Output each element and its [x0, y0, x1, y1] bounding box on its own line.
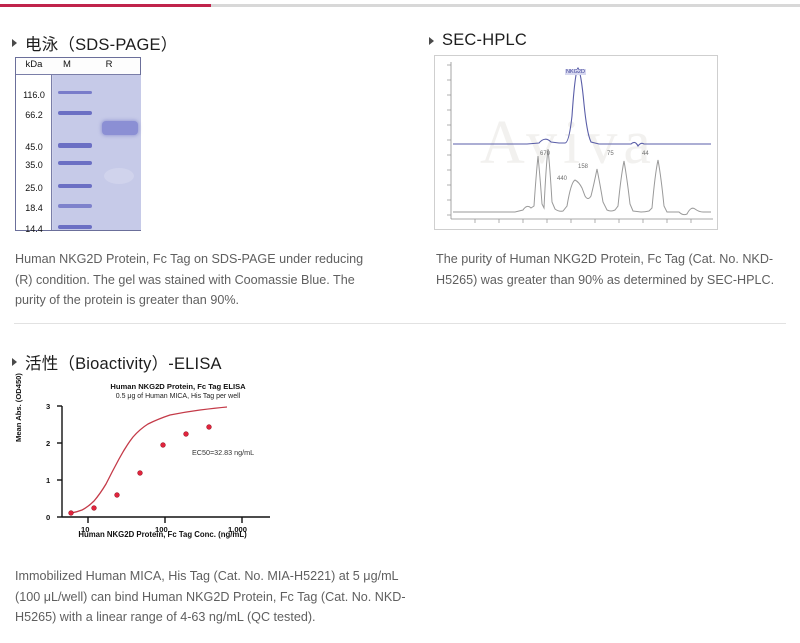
- gel-marker-band: [58, 111, 92, 115]
- gel-mw-label: 116.0: [17, 90, 51, 100]
- section-title-sec-hplc: SEC-HPLC: [442, 31, 527, 50]
- elisa-y-axis-label: Mean Abs. (OD450): [14, 373, 23, 442]
- caret-right-icon: [12, 358, 17, 366]
- gel-marker-band: [58, 161, 92, 165]
- section-divider: [14, 323, 786, 324]
- elisa-ytick-label: 3: [46, 402, 50, 411]
- caption-sds-page: Human NKG2D Protein, Fc Tag on SDS-PAGE …: [15, 249, 365, 311]
- gel-lane-sample-background: [97, 75, 141, 230]
- hplc-standard-label: 670: [540, 151, 550, 157]
- section-heading-sec-hplc: SEC-HPLC: [429, 31, 527, 50]
- elisa-ec50-annotation: EC50=32.83 ng/mL: [192, 448, 254, 457]
- gel-marker-band: [58, 91, 92, 94]
- gel-marker-band: [58, 204, 92, 208]
- gel-mw-label: 18.4: [17, 203, 51, 213]
- elisa-plot-svg: [20, 382, 295, 542]
- gel-header-kda: kDa: [19, 59, 49, 70]
- hplc-plot-svg: [435, 56, 718, 230]
- gel-marker-band: [58, 184, 92, 188]
- hplc-peak-label-nkg2d: NKG2D: [565, 69, 586, 75]
- hplc-standard-label: 44: [642, 151, 649, 157]
- hplc-standard-label: 158: [578, 164, 588, 170]
- gel-header-lane-m: M: [56, 59, 78, 70]
- section-heading-bioactivity: 活性（Bioactivity）-ELISA: [12, 350, 222, 374]
- caption-sec-hplc: The purity of Human NKG2D Protein, Fc Ta…: [436, 249, 786, 290]
- gel-artifact-smudge: [104, 168, 134, 184]
- gel-mw-label: 66.2: [17, 110, 51, 120]
- gel-ladder-label-pane: 116.0 66.2 45.0 35.0 25.0 18.4 14.4: [16, 75, 52, 230]
- gel-mw-label: 45.0: [17, 142, 51, 152]
- section-heading-sds-page: 电泳（SDS-PAGE）: [12, 31, 177, 55]
- caption-bioactivity: Immobilized Human MICA, His Tag (Cat. No…: [15, 566, 410, 628]
- sec-hplc-chromatogram: Aviva: [434, 55, 718, 230]
- elisa-binding-curve-chart: Human NKG2D Protein, Fc Tag ELISA 0.5 μg…: [20, 382, 295, 542]
- page-top-rule-accent: [0, 4, 211, 7]
- gel-mw-label: 35.0: [17, 160, 51, 170]
- gel-marker-band: [58, 225, 92, 229]
- gel-marker-band: [58, 143, 92, 148]
- gel-mw-label: 25.0: [17, 183, 51, 193]
- section-title-bioactivity: 活性（Bioactivity）-ELISA: [25, 350, 222, 374]
- elisa-x-axis-label: Human NKG2D Protein, Fc Tag Conc. (ng/mL…: [40, 530, 285, 539]
- gel-mw-label: 14.4: [17, 224, 51, 234]
- section-title-sds-page: 电泳（SDS-PAGE）: [25, 31, 177, 55]
- elisa-ytick-label: 2: [46, 439, 50, 448]
- hplc-standard-label: 75: [607, 151, 614, 157]
- gel-sample-band: [102, 121, 138, 135]
- gel-header-lane-r: R: [98, 59, 120, 70]
- sds-page-gel-image: kDa M R 116.0 66.2 45.0 35.0 25.0 18.4 1…: [15, 57, 141, 231]
- caret-right-icon: [12, 39, 17, 47]
- gel-header-row: kDa M R: [16, 58, 140, 75]
- elisa-ytick-label: 0: [46, 513, 50, 522]
- product-validation-page: 电泳（SDS-PAGE） kDa M R 116.0 66.2 45.0 35.…: [0, 0, 800, 643]
- hplc-standard-label: 440: [557, 176, 567, 182]
- caret-right-icon: [429, 37, 434, 45]
- elisa-ytick-label: 1: [46, 476, 50, 485]
